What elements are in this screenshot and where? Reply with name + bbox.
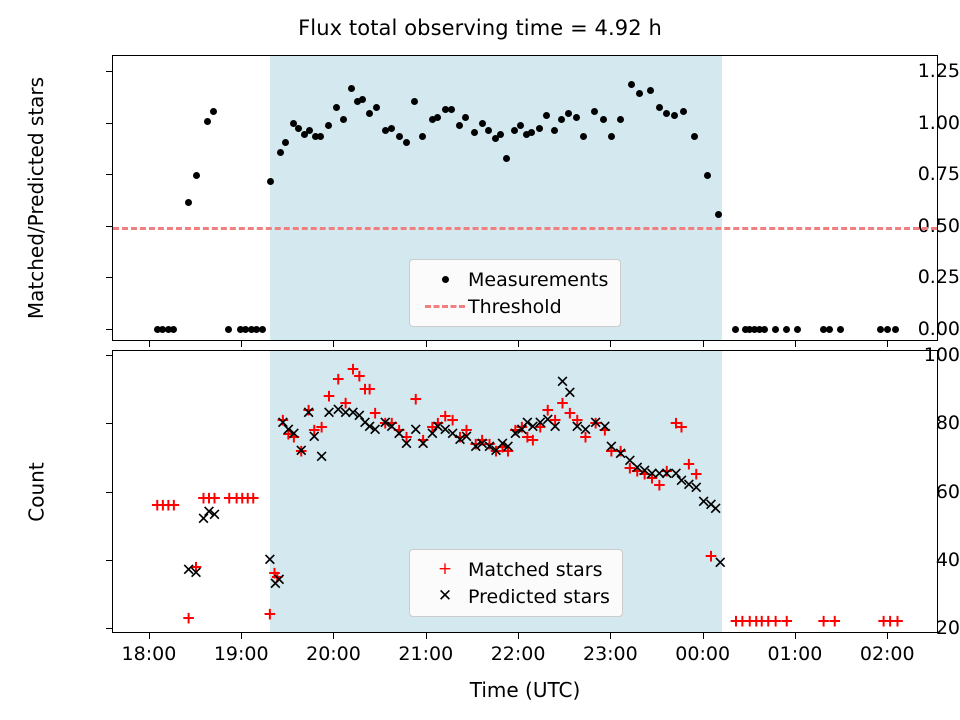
data-point-measurement bbox=[656, 104, 663, 111]
data-point-predicted-star: ✕ bbox=[302, 406, 316, 423]
x-tick-label: 20:00 bbox=[306, 643, 361, 665]
legend-entry-predicted-stars[interactable]: ✕ Predicted stars bbox=[422, 583, 610, 610]
y-axis-label-bottom: Count bbox=[24, 350, 48, 633]
legend-entry-measurements[interactable]: Measurements bbox=[422, 266, 608, 293]
x-tick-mark bbox=[610, 633, 611, 639]
data-point-predicted-star: ✕ bbox=[272, 573, 286, 590]
data-point-measurement bbox=[636, 90, 643, 97]
data-point-matched-star: + bbox=[182, 610, 196, 627]
data-point-predicted-star: ✕ bbox=[709, 501, 723, 518]
x-tick-mark bbox=[518, 633, 519, 639]
data-point-predicted-star: ✕ bbox=[263, 552, 277, 569]
data-point-measurement bbox=[573, 114, 580, 121]
data-point-measurement bbox=[691, 133, 698, 140]
predicted-stars-cross-icon: ✕ bbox=[422, 588, 468, 605]
x-axis-label: Time (UTC) bbox=[112, 678, 938, 702]
data-point-measurement bbox=[471, 129, 478, 136]
data-point-measurement bbox=[185, 199, 192, 206]
measurements-dot-icon bbox=[422, 271, 468, 288]
x-tick-label: 02:00 bbox=[860, 643, 915, 665]
data-point-measurement bbox=[295, 125, 302, 132]
x-tick-mark bbox=[241, 633, 242, 639]
data-point-measurement bbox=[783, 326, 790, 333]
figure-root: Flux total observing time = 4.92 h Match… bbox=[0, 0, 960, 720]
matched-stars-plus-icon: + bbox=[422, 561, 468, 578]
legend-bottom: + Matched stars ✕ Predicted stars bbox=[409, 549, 623, 617]
x-tick-mark bbox=[149, 633, 150, 639]
data-point-measurement bbox=[715, 211, 722, 218]
data-point-measurement bbox=[359, 96, 366, 103]
data-point-measurement bbox=[388, 125, 395, 132]
data-point-measurement bbox=[317, 133, 324, 140]
data-point-measurement bbox=[884, 326, 891, 333]
data-point-measurement bbox=[704, 172, 711, 179]
threshold-line bbox=[113, 227, 937, 230]
data-point-predicted-star: ✕ bbox=[713, 556, 727, 573]
data-point-predicted-star: ✕ bbox=[207, 508, 221, 525]
data-point-measurement bbox=[671, 112, 678, 119]
data-point-measurement bbox=[761, 326, 768, 333]
x-tick-mark bbox=[703, 633, 704, 639]
data-point-measurement bbox=[680, 108, 687, 115]
legend-entry-matched-stars[interactable]: + Matched stars bbox=[422, 556, 610, 583]
data-point-measurement bbox=[259, 326, 266, 333]
data-point-measurement bbox=[892, 326, 899, 333]
x-tick-mark bbox=[149, 341, 150, 347]
data-point-measurement bbox=[193, 172, 200, 179]
data-point-measurement bbox=[225, 326, 232, 333]
legend-label-matched-stars: Matched stars bbox=[468, 559, 602, 581]
data-point-measurement bbox=[333, 104, 340, 111]
data-point-measurement bbox=[277, 149, 284, 156]
x-tick-mark bbox=[518, 341, 519, 347]
data-point-measurement bbox=[794, 326, 801, 333]
data-point-measurement bbox=[419, 133, 426, 140]
data-point-matched-star: + bbox=[890, 614, 904, 631]
data-point-predicted-star: ✕ bbox=[189, 566, 203, 583]
x-tick-mark bbox=[703, 341, 704, 347]
data-point-measurement bbox=[282, 139, 289, 146]
data-point-measurement bbox=[411, 98, 418, 105]
data-point-measurement bbox=[373, 104, 380, 111]
x-tick-mark bbox=[795, 341, 796, 347]
data-point-measurement bbox=[485, 127, 492, 134]
data-point-predicted-star: ✕ bbox=[598, 419, 612, 436]
x-tick-mark bbox=[887, 633, 888, 639]
x-tick-mark bbox=[426, 633, 427, 639]
data-point-measurement bbox=[396, 133, 403, 140]
data-point-matched-star: + bbox=[780, 614, 794, 631]
data-point-matched-star: + bbox=[331, 371, 345, 388]
x-tick-label: 01:00 bbox=[768, 643, 823, 665]
legend-label-measurements: Measurements bbox=[468, 269, 608, 291]
x-tick-mark bbox=[795, 633, 796, 639]
data-point-measurement bbox=[536, 125, 543, 132]
x-tick-mark bbox=[426, 341, 427, 347]
data-point-measurement bbox=[580, 133, 587, 140]
data-point-matched-star: + bbox=[362, 382, 376, 399]
x-tick-label: 00:00 bbox=[675, 643, 730, 665]
data-point-matched-star: + bbox=[828, 614, 842, 631]
data-point-matched-star: + bbox=[167, 498, 181, 515]
x-tick-mark bbox=[887, 341, 888, 347]
data-point-predicted-star: ✕ bbox=[563, 385, 577, 402]
legend-entry-threshold[interactable]: Threshold bbox=[422, 293, 608, 320]
x-tick-label: 21:00 bbox=[398, 643, 453, 665]
data-point-measurement bbox=[826, 326, 833, 333]
x-tick-label: 18:00 bbox=[122, 643, 177, 665]
legend-top: Measurements Threshold bbox=[409, 259, 621, 327]
data-point-predicted-star: ✕ bbox=[307, 429, 321, 446]
data-point-measurement bbox=[306, 127, 313, 134]
data-point-matched-star: + bbox=[674, 419, 688, 436]
x-tick-mark bbox=[610, 341, 611, 347]
figure-title: Flux total observing time = 4.92 h bbox=[0, 16, 960, 40]
x-tick-label: 22:00 bbox=[491, 643, 546, 665]
data-point-measurement bbox=[732, 326, 739, 333]
data-point-measurement bbox=[210, 108, 217, 115]
y-axis-label-top: Matched/Predicted stars bbox=[24, 55, 48, 341]
data-point-measurement bbox=[608, 133, 615, 140]
data-point-measurement bbox=[551, 127, 558, 134]
threshold-dashed-line-icon bbox=[422, 298, 468, 315]
x-tick-mark bbox=[333, 341, 334, 347]
data-point-matched-star: + bbox=[246, 491, 260, 508]
data-point-predicted-star: ✕ bbox=[314, 450, 328, 467]
data-point-measurement bbox=[403, 139, 410, 146]
x-tick-mark bbox=[333, 633, 334, 639]
data-point-measurement bbox=[497, 131, 504, 138]
x-tick-label: 19:00 bbox=[214, 643, 269, 665]
legend-label-predicted-stars: Predicted stars bbox=[468, 586, 610, 608]
data-point-matched-star: + bbox=[263, 607, 277, 624]
data-point-measurement bbox=[170, 326, 177, 333]
legend-label-threshold: Threshold bbox=[468, 296, 562, 318]
data-point-measurement bbox=[772, 326, 779, 333]
data-point-matched-star: + bbox=[409, 392, 423, 409]
data-point-predicted-star: ✕ bbox=[548, 419, 562, 436]
x-tick-mark bbox=[241, 341, 242, 347]
data-point-measurement bbox=[325, 122, 332, 129]
data-point-measurement bbox=[837, 326, 844, 333]
data-point-measurement bbox=[204, 118, 211, 125]
x-tick-label: 23:00 bbox=[583, 643, 638, 665]
